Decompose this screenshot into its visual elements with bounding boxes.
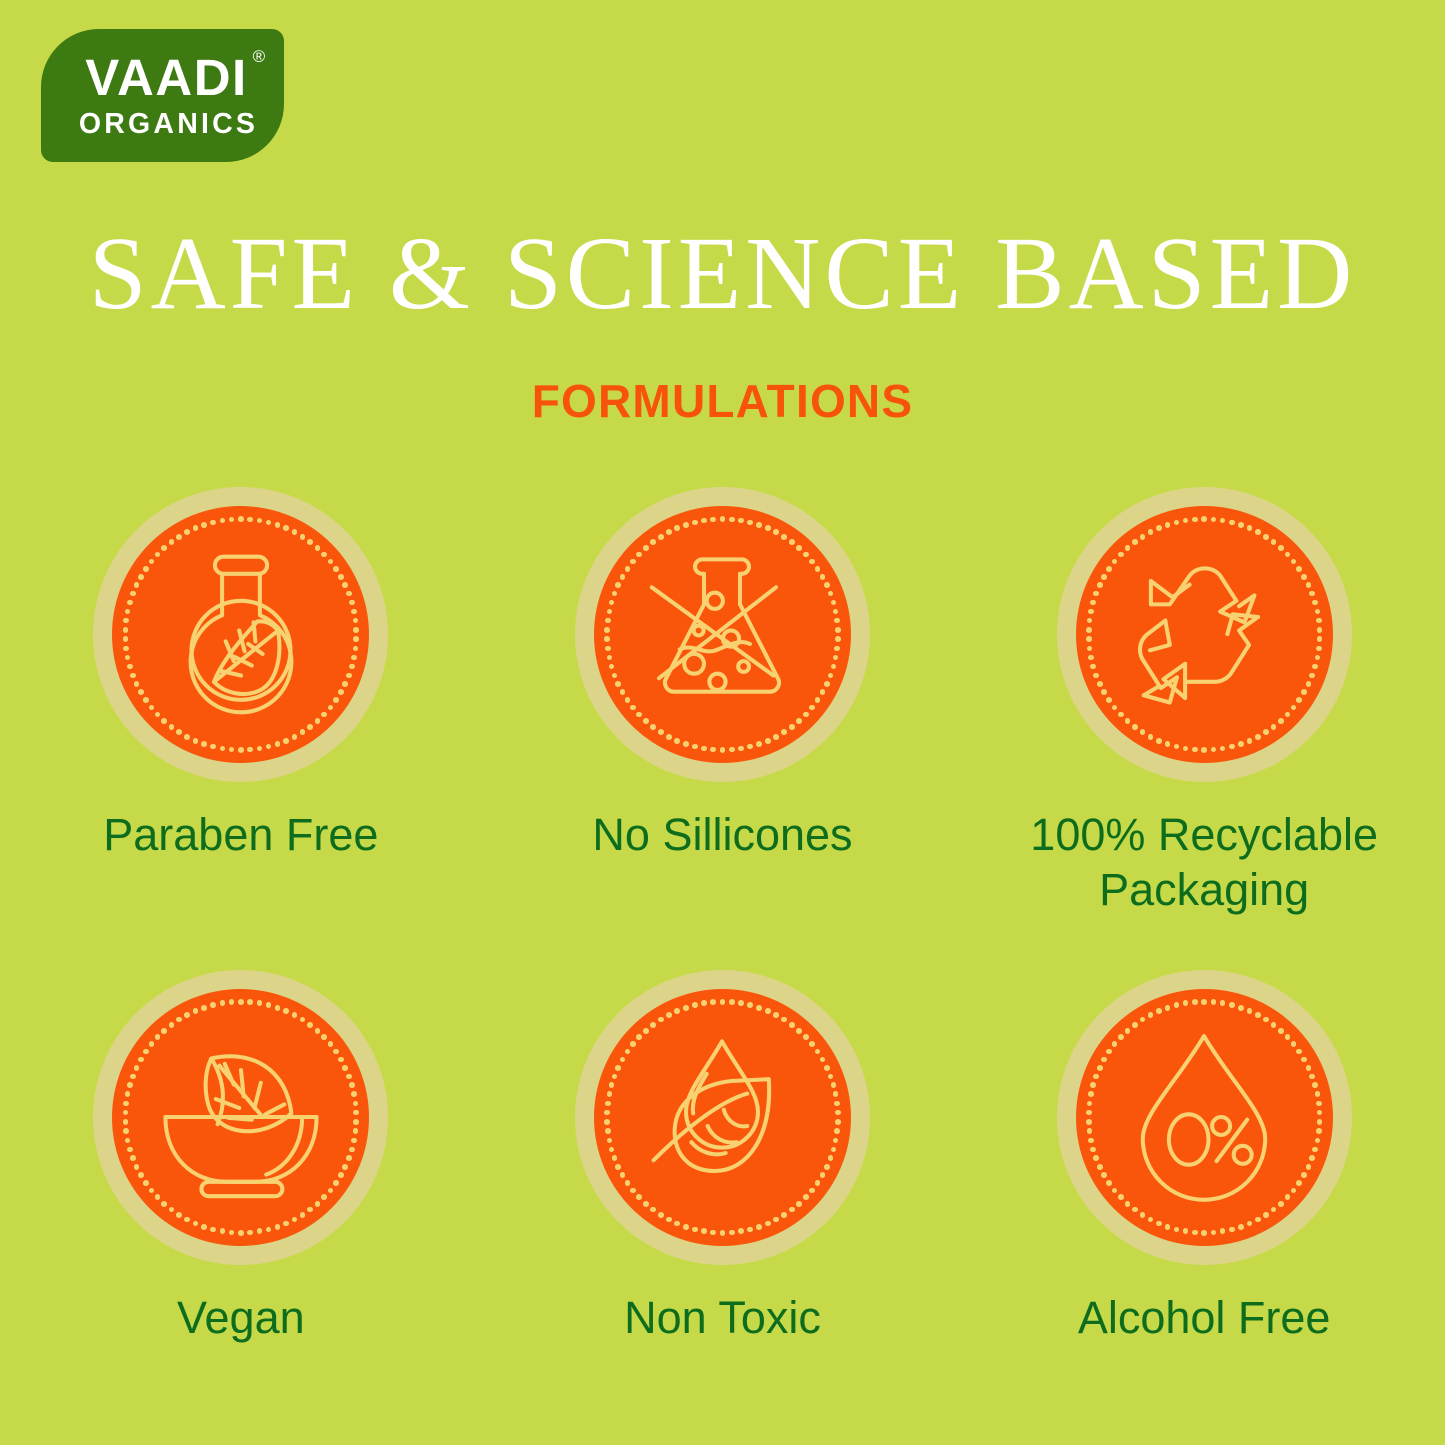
badge-label: Alcohol Free: [1078, 1291, 1331, 1346]
badge-non-toxic: Non Toxic: [482, 970, 964, 1346]
bowl-with-leaf-icon: [151, 1027, 331, 1207]
brand-wordmark: VAADI ®: [85, 52, 247, 103]
badge-medallion: [1057, 970, 1352, 1265]
badge-label: Paraben Free: [103, 808, 378, 863]
badge-alcohol-free: Alcohol Free: [963, 970, 1445, 1346]
badge-recyclable-packaging: 100% Recyclable Packaging: [963, 487, 1445, 918]
badge-medallion: [575, 970, 870, 1265]
badge-disc: [594, 989, 851, 1246]
badge-disc: [112, 989, 369, 1246]
badge-label-line2: Packaging: [1030, 863, 1378, 918]
badge-no-sillicones: No Sillicones: [482, 487, 964, 918]
badge-disc: [1076, 506, 1333, 763]
badge-label-line1: 100% Recyclable: [1030, 808, 1378, 863]
badge-vegan: Vegan: [0, 970, 482, 1346]
recycling-arrows-icon: [1114, 545, 1294, 725]
page-subtitle: FORMULATIONS: [0, 378, 1445, 424]
page-title: SAFE & SCIENCE BASED: [0, 222, 1445, 326]
badge-disc: [1076, 989, 1333, 1246]
crossed-out-erlenmeyer-flask-icon: [632, 545, 812, 725]
brand-sub-wordmark: ORGANICS: [79, 110, 258, 139]
badge-disc: [594, 506, 851, 763]
badge-label: No Sillicones: [592, 808, 852, 863]
brand-logo: VAADI ® ORGANICS: [41, 29, 284, 162]
registered-trademark-icon: ®: [253, 48, 267, 65]
brand-wordmark-text: VAADI: [85, 49, 247, 106]
badge-paraben-free: Paraben Free: [0, 487, 482, 918]
badge-disc: [112, 506, 369, 763]
badge-label: 100% Recyclable Packaging: [1030, 808, 1378, 918]
water-drop-zero-percent-icon: [1114, 1027, 1294, 1207]
feature-badge-grid: Paraben Free: [0, 487, 1445, 1346]
badge-medallion: [93, 487, 388, 782]
badge-medallion: [575, 487, 870, 782]
badge-medallion: [93, 970, 388, 1265]
flask-with-leaf-icon: [151, 545, 331, 725]
badge-label: Vegan: [177, 1291, 305, 1346]
badge-medallion: [1057, 487, 1352, 782]
water-drop-on-leaf-icon: [632, 1027, 812, 1207]
badge-label: Non Toxic: [624, 1291, 821, 1346]
